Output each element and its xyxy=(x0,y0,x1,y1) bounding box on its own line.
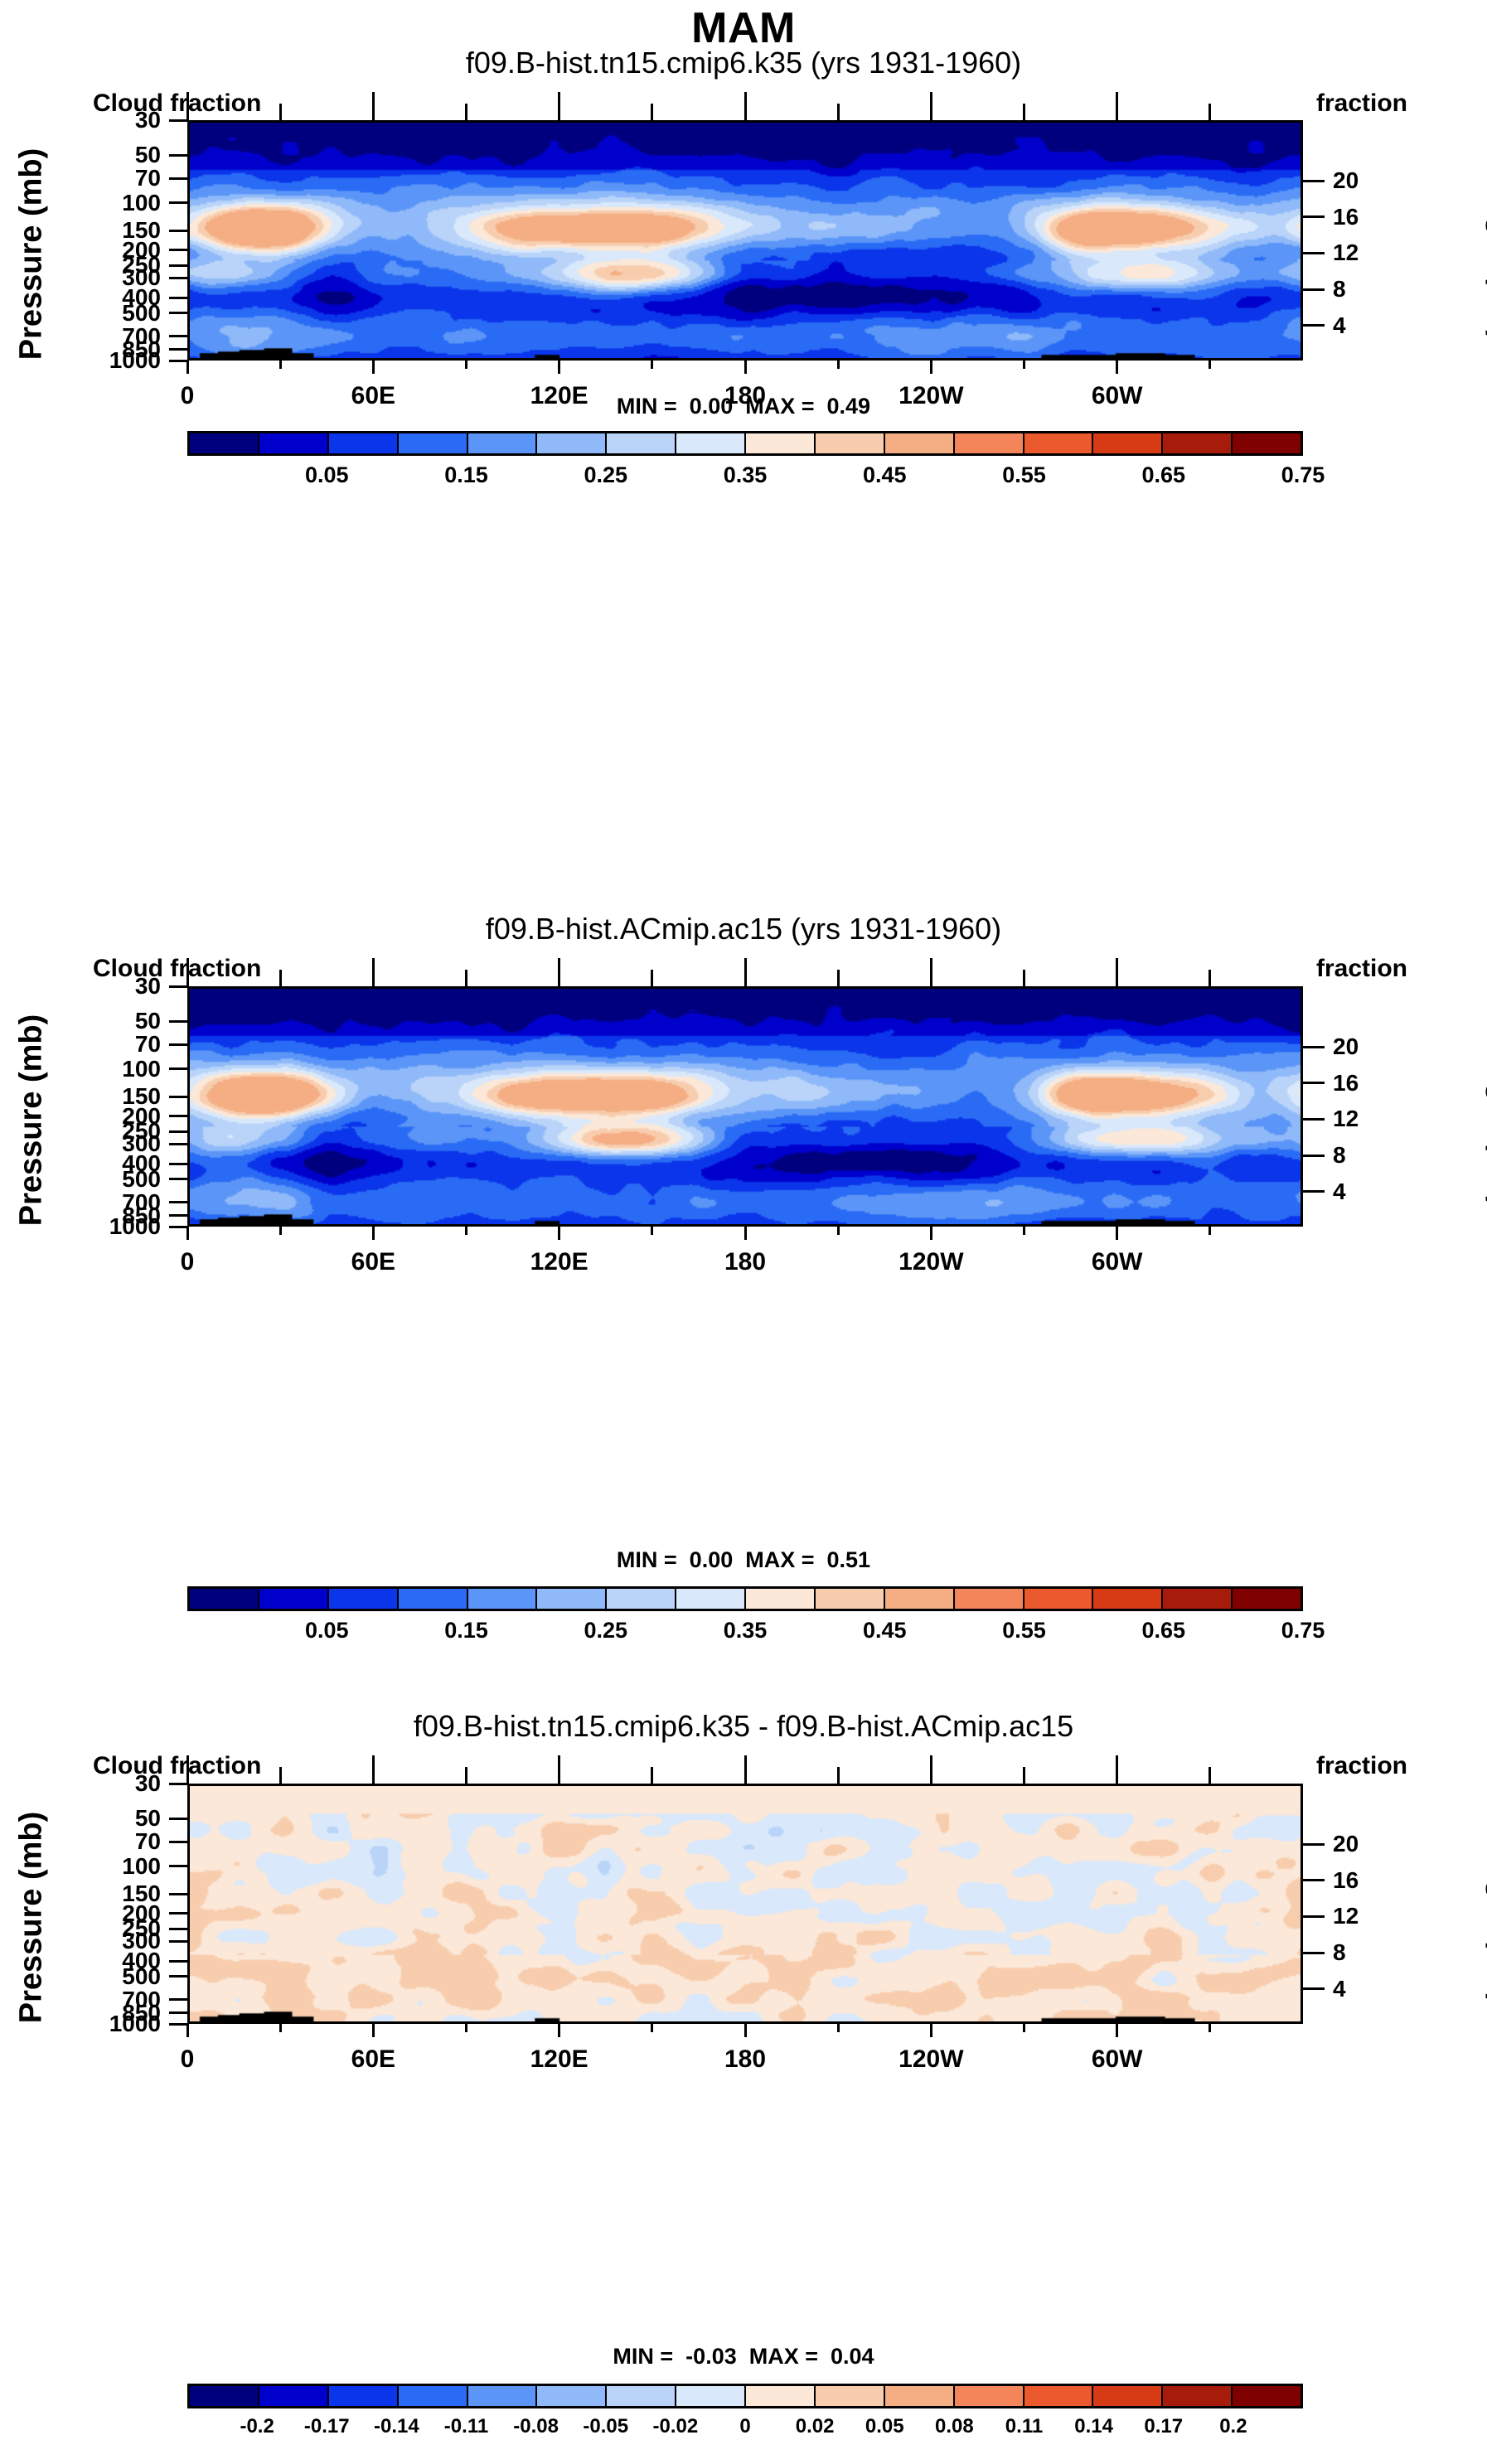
y-tick-left xyxy=(169,348,187,351)
x-tick-label: 60E xyxy=(351,2045,395,2074)
y-tick-left xyxy=(169,2011,187,2014)
colorbar-cell xyxy=(1163,1589,1233,1609)
y-tick-label-right: 8 xyxy=(1333,1939,1407,1966)
x-tick-bottom-minor xyxy=(279,1227,282,1235)
y-tick-left xyxy=(169,1226,187,1228)
colorbar-tick-label: 0.45 xyxy=(863,462,907,488)
x-tick-label: 120E xyxy=(530,2045,589,2074)
y-tick-left xyxy=(169,1201,187,1203)
x-tick-label: 60E xyxy=(351,1248,395,1276)
colorbar-tick-label: 0.25 xyxy=(584,462,627,488)
x-tick-label: 60W xyxy=(1092,2045,1143,2074)
y-tick-label-right: 12 xyxy=(1333,1903,1407,1929)
colorbar-cell xyxy=(955,433,1024,453)
panel-title-bottom: f09.B-hist.tn15.cmip6.k35 - f09.B-hist.A… xyxy=(0,1709,1487,1744)
colorbar-tick-label: 0.02 xyxy=(796,2415,835,2438)
colorbar-cell xyxy=(607,2386,676,2406)
y-tick-left xyxy=(169,249,187,251)
colorbar-cell xyxy=(537,2386,607,2406)
x-tick-top-major xyxy=(372,92,375,120)
y-tick-label-right: 20 xyxy=(1333,1831,1407,1857)
colorbar-cell xyxy=(746,1589,816,1609)
colorbar-cell xyxy=(676,2386,746,2406)
y-tick-left xyxy=(169,1928,187,1930)
colorbar-cell xyxy=(816,2386,885,2406)
y-tick-label-left: 30 xyxy=(36,1770,161,1797)
y-tick-left xyxy=(169,1912,187,1915)
x-tick-top-major xyxy=(1116,92,1118,120)
x-tick-bottom-major xyxy=(372,361,375,374)
x-tick-top-minor xyxy=(837,104,840,120)
y-tick-label-right: 12 xyxy=(1333,240,1407,266)
colorbar-cell xyxy=(259,433,329,453)
colorbar-cell xyxy=(746,433,816,453)
x-tick-bottom-minor xyxy=(465,2024,467,2032)
colorbar-cell xyxy=(399,433,468,453)
y-tick-left xyxy=(169,1178,187,1180)
colorbar-cell xyxy=(259,1589,329,1609)
y-tick-label-right: 20 xyxy=(1333,167,1407,194)
x-tick-top-major xyxy=(930,958,932,986)
colorbar-cell xyxy=(676,1589,746,1609)
x-tick-bottom-minor xyxy=(1208,2024,1211,2032)
x-tick-bottom-major xyxy=(930,1227,932,1240)
colorbar-cell xyxy=(1093,1589,1163,1609)
colorbar-tick-label: -0.11 xyxy=(444,2415,488,2438)
y-tick-label-right: 4 xyxy=(1333,312,1407,339)
y-tick-right xyxy=(1303,1046,1325,1048)
colorbar-cell xyxy=(885,2386,955,2406)
colorbar-tick-label: 0.55 xyxy=(1002,1618,1046,1643)
minmax-middle: MIN = 0.00 MAX = 0.51 xyxy=(0,1547,1487,1573)
colorbar-cell xyxy=(329,2386,399,2406)
x-tick-bottom-major xyxy=(744,361,747,374)
minmax-bottom: MIN = -0.03 MAX = 0.04 xyxy=(0,2344,1487,2370)
x-tick-top-minor xyxy=(651,970,653,986)
contour-plot-middle[interactable] xyxy=(187,986,1303,1227)
colorbar-tick-label: 0.17 xyxy=(1144,2415,1183,2438)
y-tick-left xyxy=(169,1096,187,1098)
y-tick-left xyxy=(169,230,187,232)
colorbar-tick-label: 0.65 xyxy=(1141,1618,1185,1643)
colorbar-bottom[interactable] xyxy=(187,2384,1303,2408)
y-tick-left xyxy=(169,1998,187,2001)
colorbar-tick-label: 0 xyxy=(739,2415,750,2438)
x-tick-top-major xyxy=(186,958,189,986)
colorbar-tick-label: -0.05 xyxy=(583,2415,628,2438)
y-tick-left xyxy=(169,1043,187,1046)
y-tick-left xyxy=(169,335,187,337)
colorbar-cell xyxy=(468,1589,538,1609)
x-tick-top-major xyxy=(186,1755,189,1784)
y-tick-right xyxy=(1303,1190,1325,1193)
x-tick-top-minor xyxy=(837,970,840,986)
colorbar-cell xyxy=(399,1589,468,1609)
colorbar-tick-label: 0.15 xyxy=(444,462,488,488)
colorbar-cell xyxy=(1233,433,1301,453)
y-tick-label-left: 70 xyxy=(36,1828,161,1855)
x-tick-bottom-major xyxy=(186,361,189,374)
colorbar-cell xyxy=(607,1589,676,1609)
colorbar-tick-label: 0.11 xyxy=(1005,2415,1043,2438)
colorbar-tick-label: -0.2 xyxy=(240,2415,274,2438)
x-tick-top-minor xyxy=(651,1767,653,1784)
panel-right-label-top: fraction xyxy=(1316,90,1407,118)
y-tick-left xyxy=(169,985,187,988)
y-tick-label-left: 30 xyxy=(36,107,161,133)
x-tick-top-minor xyxy=(279,970,282,986)
y-tick-left xyxy=(169,277,187,279)
y-tick-label-left: 70 xyxy=(36,165,161,191)
y-tick-left xyxy=(169,1960,187,1963)
x-tick-top-major xyxy=(186,92,189,120)
colorbar-tick-label: 0.35 xyxy=(724,462,768,488)
y-tick-left xyxy=(169,1130,187,1133)
colorbar-tick-label: 0.2 xyxy=(1219,2415,1247,2438)
y-tick-right xyxy=(1303,1155,1325,1157)
x-tick-top-major xyxy=(558,1755,560,1784)
colorbar-cell xyxy=(955,1589,1024,1609)
x-tick-bottom-major xyxy=(744,2024,747,2037)
colorbar-cell xyxy=(468,433,538,453)
x-tick-bottom-minor xyxy=(651,361,653,369)
x-tick-top-major xyxy=(930,92,932,120)
colorbar-tick-label: 0.75 xyxy=(1281,1618,1325,1643)
y-tick-left xyxy=(169,154,187,157)
y-tick-right xyxy=(1303,1915,1325,1918)
colorbar-cell xyxy=(190,433,259,453)
x-tick-top-major xyxy=(372,958,375,986)
contour-canvas-top xyxy=(190,123,1301,358)
y-tick-label-left: 70 xyxy=(36,1031,161,1058)
x-tick-bottom-minor xyxy=(837,361,840,369)
colorbar-tick-label: 0.65 xyxy=(1141,462,1185,488)
x-tick-top-minor xyxy=(1023,104,1025,120)
colorbar-cell xyxy=(468,2386,538,2406)
x-tick-label: 120E xyxy=(530,1248,589,1276)
y-tick-label-right: 16 xyxy=(1333,204,1407,230)
colorbar-tick-label: -0.17 xyxy=(304,2415,350,2438)
colorbar-cell xyxy=(885,433,955,453)
x-tick-top-minor xyxy=(465,104,467,120)
x-tick-bottom-minor xyxy=(279,2024,282,2032)
colorbar-cell xyxy=(399,2386,468,2406)
x-tick-bottom-minor xyxy=(1208,1227,1211,1235)
y-tick-left xyxy=(169,177,187,180)
colorbar-tick-label: 0.35 xyxy=(724,1618,768,1643)
colorbar-cell xyxy=(1024,2386,1094,2406)
y-tick-right xyxy=(1303,1082,1325,1084)
x-tick-bottom-major xyxy=(1116,361,1118,374)
colorbar-cell xyxy=(1093,433,1163,453)
x-tick-top-major xyxy=(1116,958,1118,986)
x-tick-top-minor xyxy=(465,1767,467,1784)
y-tick-left xyxy=(169,1783,187,1785)
colorbar-cell xyxy=(607,433,676,453)
y-axis-title-right-top: Height (km) xyxy=(1485,130,1487,379)
colorbar-tick-label: 0.05 xyxy=(865,2415,904,2438)
x-tick-label: 120W xyxy=(898,1248,963,1276)
x-tick-top-major xyxy=(744,958,747,986)
x-tick-top-minor xyxy=(1023,1767,1025,1784)
y-axis-title-right-bottom: Height (km) xyxy=(1485,1794,1487,2042)
y-tick-label-left: 30 xyxy=(36,973,161,1000)
x-tick-label: 60W xyxy=(1092,1248,1143,1276)
colorbar-cell xyxy=(885,1589,955,1609)
colorbar-cell xyxy=(1093,2386,1163,2406)
y-tick-label-left: 1000 xyxy=(36,2011,161,2037)
x-tick-top-minor xyxy=(837,1767,840,1784)
y-tick-label-left: 100 xyxy=(36,1056,161,1082)
y-tick-left xyxy=(169,1115,187,1117)
x-tick-bottom-minor xyxy=(1023,361,1025,369)
x-tick-top-minor xyxy=(1208,104,1211,120)
colorbar-cell xyxy=(329,1589,399,1609)
colorbar-cell xyxy=(537,433,607,453)
x-tick-bottom-minor xyxy=(837,2024,840,2032)
x-tick-top-minor xyxy=(465,970,467,986)
colorbar-cell xyxy=(537,1589,607,1609)
y-tick-left xyxy=(169,119,187,122)
x-tick-bottom-minor xyxy=(465,1227,467,1235)
panel-title-middle: f09.B-hist.ACmip.ac15 (yrs 1931-1960) xyxy=(0,912,1487,946)
minmax-top: MIN = 0.00 MAX = 0.49 xyxy=(0,394,1487,419)
colorbar-tick-label: -0.14 xyxy=(374,2415,419,2438)
x-tick-bottom-major xyxy=(1116,1227,1118,1240)
y-tick-label-right: 4 xyxy=(1333,1976,1407,2002)
contour-plot-top[interactable] xyxy=(187,120,1303,361)
colorbar-cell xyxy=(190,2386,259,2406)
x-tick-label: 180 xyxy=(724,2045,766,2074)
colorbar-cell xyxy=(1233,2386,1301,2406)
colorbar-cell xyxy=(329,433,399,453)
y-tick-label-right: 8 xyxy=(1333,1142,1407,1169)
y-tick-right xyxy=(1303,180,1325,182)
x-tick-label: 180 xyxy=(724,1248,766,1276)
y-tick-label-right: 16 xyxy=(1333,1867,1407,1894)
x-tick-top-major xyxy=(558,92,560,120)
y-tick-left xyxy=(169,360,187,362)
x-tick-bottom-major xyxy=(1116,2024,1118,2037)
y-tick-right xyxy=(1303,252,1325,254)
x-tick-bottom-minor xyxy=(651,2024,653,2032)
y-tick-right xyxy=(1303,1843,1325,1846)
colorbar-cell xyxy=(190,1589,259,1609)
x-tick-bottom-major xyxy=(186,1227,189,1240)
y-tick-right xyxy=(1303,1879,1325,1881)
y-axis-title-right-middle: Height (km) xyxy=(1485,996,1487,1245)
y-tick-left xyxy=(169,312,187,314)
y-tick-left xyxy=(169,264,187,267)
colorbar-cell xyxy=(1233,1589,1301,1609)
contour-canvas-bottom xyxy=(190,1786,1301,2021)
x-tick-top-major xyxy=(744,92,747,120)
colorbar-cell xyxy=(676,433,746,453)
y-tick-label-left: 1000 xyxy=(36,347,161,374)
contour-canvas-middle xyxy=(190,989,1301,1224)
y-tick-label-right: 8 xyxy=(1333,276,1407,303)
x-tick-top-major xyxy=(1116,1755,1118,1784)
x-tick-bottom-minor xyxy=(1023,1227,1025,1235)
y-tick-left xyxy=(169,1067,187,1070)
y-tick-right xyxy=(1303,215,1325,218)
x-tick-top-major xyxy=(372,1755,375,1784)
x-tick-bottom-minor xyxy=(1023,2024,1025,2032)
x-tick-top-minor xyxy=(1023,970,1025,986)
y-tick-left xyxy=(169,2023,187,2026)
y-tick-label-right: 12 xyxy=(1333,1106,1407,1132)
panel-right-label-middle: fraction xyxy=(1316,955,1407,983)
x-tick-label: 120W xyxy=(898,2045,963,2074)
x-tick-bottom-major xyxy=(744,1227,747,1240)
colorbar-cell xyxy=(746,2386,816,2406)
y-tick-label-right: 16 xyxy=(1333,1070,1407,1096)
colorbar-cell xyxy=(1024,433,1094,453)
y-tick-left xyxy=(169,201,187,204)
colorbar-tick-label: 0.25 xyxy=(584,1618,627,1643)
x-tick-bottom-major xyxy=(930,2024,932,2037)
y-tick-label-left: 100 xyxy=(36,1853,161,1880)
x-tick-top-minor xyxy=(1208,970,1211,986)
x-tick-bottom-minor xyxy=(279,361,282,369)
x-tick-top-major xyxy=(930,1755,932,1784)
x-tick-label: 0 xyxy=(181,1248,195,1276)
x-tick-bottom-major xyxy=(372,2024,375,2037)
y-tick-left xyxy=(169,1163,187,1165)
colorbar-tick-label: -0.02 xyxy=(653,2415,699,2438)
x-tick-label: 0 xyxy=(181,2045,195,2074)
colorbar-tick-label: 0.14 xyxy=(1074,2415,1113,2438)
contour-plot-bottom[interactable] xyxy=(187,1784,1303,2024)
colorbar-cell xyxy=(816,1589,885,1609)
x-tick-top-major xyxy=(558,958,560,986)
colorbar-tick-label: 0.55 xyxy=(1002,462,1046,488)
x-tick-bottom-major xyxy=(186,2024,189,2037)
y-tick-left xyxy=(169,1865,187,1867)
x-tick-bottom-major xyxy=(558,361,560,374)
colorbar-cell xyxy=(1024,1589,1094,1609)
x-tick-bottom-minor xyxy=(1208,361,1211,369)
colorbar-top[interactable] xyxy=(187,431,1303,456)
x-tick-bottom-major xyxy=(558,2024,560,2037)
y-tick-left xyxy=(169,1020,187,1023)
y-tick-left xyxy=(169,1818,187,1820)
y-tick-left xyxy=(169,1841,187,1843)
y-tick-label-right: 4 xyxy=(1333,1179,1407,1205)
y-tick-left xyxy=(169,1143,187,1145)
x-tick-bottom-major xyxy=(930,361,932,374)
x-tick-bottom-minor xyxy=(651,1227,653,1235)
colorbar-cell xyxy=(1163,2386,1233,2406)
colorbar-cell xyxy=(259,2386,329,2406)
x-tick-bottom-major xyxy=(558,1227,560,1240)
y-tick-label-left: 1000 xyxy=(36,1213,161,1240)
y-tick-left xyxy=(169,1893,187,1895)
y-tick-label-right: 20 xyxy=(1333,1034,1407,1060)
colorbar-cell xyxy=(816,433,885,453)
y-tick-right xyxy=(1303,288,1325,291)
colorbar-middle[interactable] xyxy=(187,1586,1303,1611)
panel-title-top: f09.B-hist.tn15.cmip6.k35 (yrs 1931-1960… xyxy=(0,46,1487,80)
x-tick-top-major xyxy=(744,1755,747,1784)
colorbar-tick-label: 0.08 xyxy=(935,2415,974,2438)
colorbar-tick-label: 0.75 xyxy=(1281,462,1325,488)
y-tick-left xyxy=(169,1940,187,1943)
x-tick-bottom-major xyxy=(372,1227,375,1240)
x-tick-bottom-minor xyxy=(837,1227,840,1235)
y-tick-right xyxy=(1303,1987,1325,1990)
y-tick-label-left: 100 xyxy=(36,190,161,216)
colorbar-tick-label: 0.05 xyxy=(305,1618,349,1643)
colorbar-tick-label: 0.05 xyxy=(305,462,349,488)
figure-root: MAM f09.B-hist.tn15.cmip6.k35 (yrs 1931-… xyxy=(0,0,1487,2464)
x-tick-top-minor xyxy=(279,104,282,120)
colorbar-tick-label: -0.08 xyxy=(513,2415,559,2438)
y-tick-left xyxy=(169,297,187,299)
y-tick-right xyxy=(1303,1952,1325,1954)
x-tick-bottom-minor xyxy=(465,361,467,369)
y-tick-left xyxy=(169,1975,187,1977)
x-tick-top-minor xyxy=(1208,1767,1211,1784)
colorbar-cell xyxy=(1163,433,1233,453)
y-tick-right xyxy=(1303,324,1325,327)
colorbar-tick-label: 0.45 xyxy=(863,1618,907,1643)
y-tick-right xyxy=(1303,1118,1325,1121)
panel-right-label-bottom: fraction xyxy=(1316,1752,1407,1780)
colorbar-tick-label: 0.15 xyxy=(444,1618,488,1643)
x-tick-top-minor xyxy=(651,104,653,120)
x-tick-top-minor xyxy=(279,1767,282,1784)
colorbar-cell xyxy=(955,2386,1024,2406)
y-tick-left xyxy=(169,1214,187,1217)
